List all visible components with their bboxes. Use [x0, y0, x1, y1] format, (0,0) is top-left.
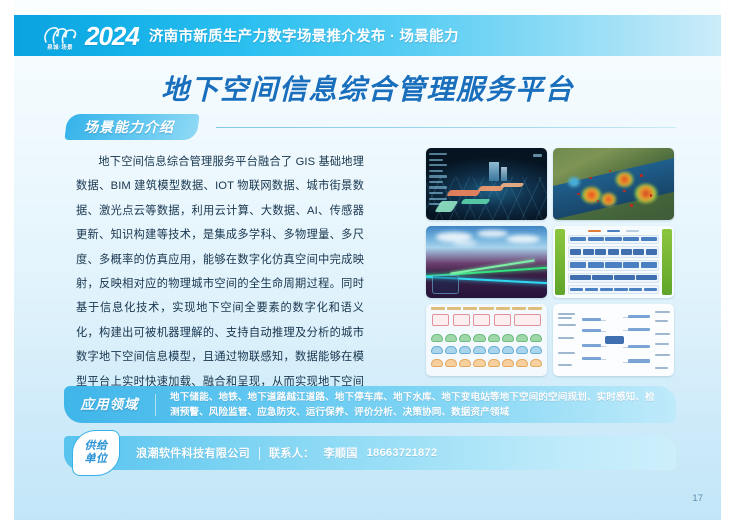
logo-subtitle: 泉城·场景: [47, 44, 73, 52]
mindmap-leaf: [655, 343, 670, 345]
section-label-pill: 场景能力介绍: [64, 114, 199, 140]
flow-layer-orange: [431, 359, 542, 367]
banner-content: 泉城·场景 2024 济南市新质生产力数字场景推介发布 · 场景能力: [40, 15, 459, 56]
river-overlay: [553, 154, 674, 220]
supplier-company: 浪潮软件科技有限公司: [136, 445, 250, 461]
mindmap-leaf: [558, 364, 573, 366]
mindmap-node: [582, 357, 601, 360]
mindmap-leaf: [655, 367, 668, 369]
screenshot-gallery: [426, 148, 674, 376]
diagram-legend: [572, 228, 654, 233]
page-number: 17: [692, 493, 703, 504]
slide-banner: 泉城·场景 2024 济南市新质生产力数字场景推介发布 · 场景能力: [14, 15, 721, 56]
event-logo: 泉城·场景: [40, 20, 80, 52]
screenshot-aerial-heatmap-analysis[interactable]: [553, 148, 674, 220]
slide-canvas: 泉城·场景 2024 济南市新质生产力数字场景推介发布 · 场景能力 地下空间信…: [14, 0, 721, 520]
supplier-badge: 供给 单位: [72, 430, 120, 476]
architecture-side-column: [662, 229, 672, 295]
mindmap-node: [628, 315, 650, 318]
architecture-layer: [568, 273, 660, 283]
section-label-text: 场景能力介绍: [84, 117, 174, 137]
cloud: [477, 230, 508, 237]
mindmap-leaf: [655, 320, 668, 322]
supplier-badge-line1: 供给: [85, 440, 108, 453]
flow-card: [514, 314, 541, 326]
architecture-layer: [568, 235, 660, 244]
logo-year: 2024: [85, 23, 139, 49]
flow-card: [494, 314, 511, 326]
flow-layer-green: [431, 334, 542, 342]
mindmap-leaf: [655, 354, 671, 356]
supplier-contact-name: 李顺国: [323, 445, 357, 461]
screenshot-road-point-cloud-scan[interactable]: [426, 226, 547, 298]
capability-description: 地下空间信息综合管理服务平台融合了 GIS 基础地理数据、BIM 建筑模型数据、…: [76, 150, 364, 418]
mindmap-leaf: [558, 352, 575, 354]
mindmap-leaf: [655, 333, 671, 335]
cloud: [453, 240, 477, 246]
banner-title: 济南市新质生产力数字场景推介发布 · 场景能力: [149, 25, 459, 46]
page-title: 地下空间信息综合管理服务平台: [14, 68, 721, 108]
mindmap-node: [628, 328, 650, 331]
architecture-layer: [568, 285, 660, 294]
mindmap-leaf: [558, 337, 574, 339]
mindmap-node: [628, 359, 650, 362]
description-paragraph: 地下空间信息综合管理服务平台融合了 GIS 基础地理数据、BIM 建筑模型数据、…: [76, 150, 364, 418]
supplier-contact-phone: 18663721872: [367, 447, 438, 459]
supplier-divider: [259, 447, 260, 460]
application-domain-text: 地下储能、地铁、地下道路越江道路、地下停车库、地下水库、地下变电站等地下空间的空…: [156, 390, 676, 420]
underground-slab: [500, 183, 524, 187]
mindmap-node: [628, 345, 650, 348]
heat-blob: [635, 184, 657, 203]
cloud: [506, 235, 540, 243]
flow-top-tags: [431, 307, 542, 311]
hud-panel: [432, 275, 459, 294]
flow-card: [432, 314, 449, 326]
flow-card: [453, 314, 470, 326]
spring-swirl-icon: [41, 25, 79, 44]
heat-blob: [568, 177, 580, 187]
section-divider: [216, 127, 676, 128]
mindmap-leaf: [655, 311, 671, 313]
heat-blob: [601, 193, 616, 206]
mindmap-node: [582, 344, 601, 347]
architecture-layer: [568, 246, 660, 258]
mindmap-root-node: [605, 336, 624, 345]
building-model: [501, 167, 507, 181]
mindmap-node: [582, 318, 601, 321]
section-header: 场景能力介绍: [66, 114, 676, 140]
slide-page: 泉城·场景 2024 济南市新质生产力数字场景推介发布 · 场景能力 地下空间信…: [0, 0, 735, 520]
sensor-dot: [640, 174, 643, 177]
flow-layer-blue: [431, 346, 542, 354]
underground-slab: [446, 190, 481, 196]
sensor-dot: [630, 204, 633, 207]
heat-blob: [616, 172, 633, 186]
mindmap-leaf: [558, 313, 575, 315]
supplier-info: 浪潮软件科技有限公司 联系人： 李顺国 18663721872: [136, 445, 437, 461]
sensor-dot: [577, 193, 580, 196]
architecture-layer: [568, 260, 660, 271]
supplier-contact-label: 联系人：: [269, 445, 315, 461]
mindmap-node: [582, 329, 601, 332]
screenshot-data-flow-diagram[interactable]: [426, 304, 547, 376]
building-model: [489, 162, 499, 181]
screenshot-underground-city-3d-view[interactable]: [426, 148, 547, 220]
screenshot-system-architecture-diagram[interactable]: [553, 226, 674, 298]
application-domain-strip: 应用领域 地下储能、地铁、地下道路越江道路、地下停车库、地下水库、地下变电站等地…: [64, 386, 676, 423]
supplier-badge-line2: 单位: [85, 453, 108, 466]
flow-card: [473, 314, 490, 326]
supplier-strip: 供给 单位 浪潮软件科技有限公司 联系人： 李顺国 18663721872: [64, 436, 676, 470]
screenshot-capability-mind-map[interactable]: [553, 304, 674, 376]
application-domain-label: 应用领域: [64, 394, 156, 416]
architecture-side-column: [555, 229, 565, 295]
mindmap-leaf: [558, 317, 573, 319]
toolbar-icon: [533, 154, 542, 157]
underground-slab: [461, 199, 491, 204]
mindmap-leaf: [558, 324, 576, 326]
